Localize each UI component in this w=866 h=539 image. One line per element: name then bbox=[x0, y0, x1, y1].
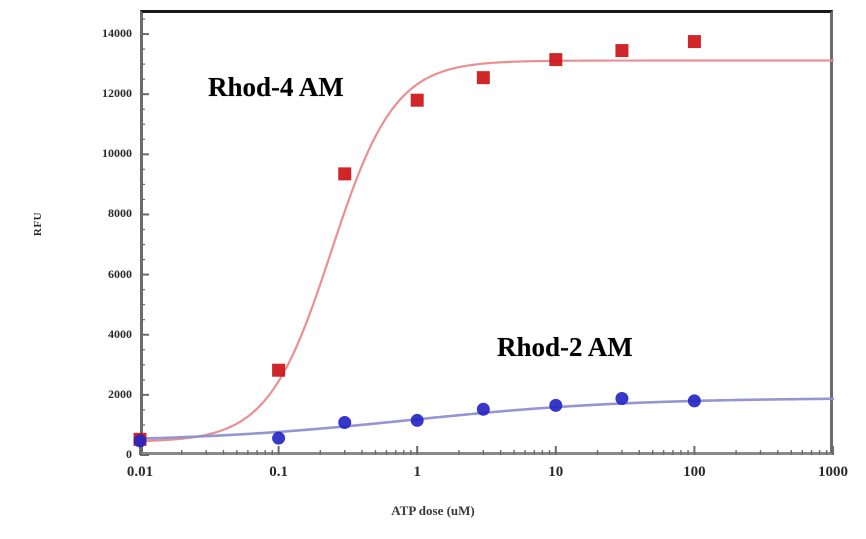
y-tick-label: 2000 bbox=[60, 387, 132, 402]
y-tick-label: 0 bbox=[60, 447, 132, 462]
x-axis-title: ATP dose (uM) bbox=[333, 503, 533, 519]
y-tick-label: 4000 bbox=[60, 327, 132, 342]
y-tick-label: 6000 bbox=[60, 267, 132, 282]
y-axis-title: RFU bbox=[32, 194, 44, 254]
x-tick-label: 0.01 bbox=[100, 464, 180, 481]
chart-figure: 02000400060008000100001200014000 0.010.1… bbox=[0, 0, 866, 539]
y-tick-label: 10000 bbox=[60, 146, 132, 161]
x-tick-label: 1 bbox=[377, 464, 457, 481]
y-tick-label: 12000 bbox=[60, 86, 132, 101]
x-tick-label: 1000 bbox=[793, 464, 866, 481]
fit-curves-layer bbox=[140, 61, 833, 442]
series-label-rhod-2-am: Rhod-2 AM bbox=[497, 332, 633, 363]
x-tick-label: 100 bbox=[654, 464, 734, 481]
y-tick-label: 14000 bbox=[60, 26, 132, 41]
x-tick-label: 10 bbox=[516, 464, 596, 481]
x-tick-label: 0.1 bbox=[239, 464, 319, 481]
series-label-rhod-4-am: Rhod-4 AM bbox=[208, 72, 344, 103]
y-tick-label: 8000 bbox=[60, 206, 132, 221]
